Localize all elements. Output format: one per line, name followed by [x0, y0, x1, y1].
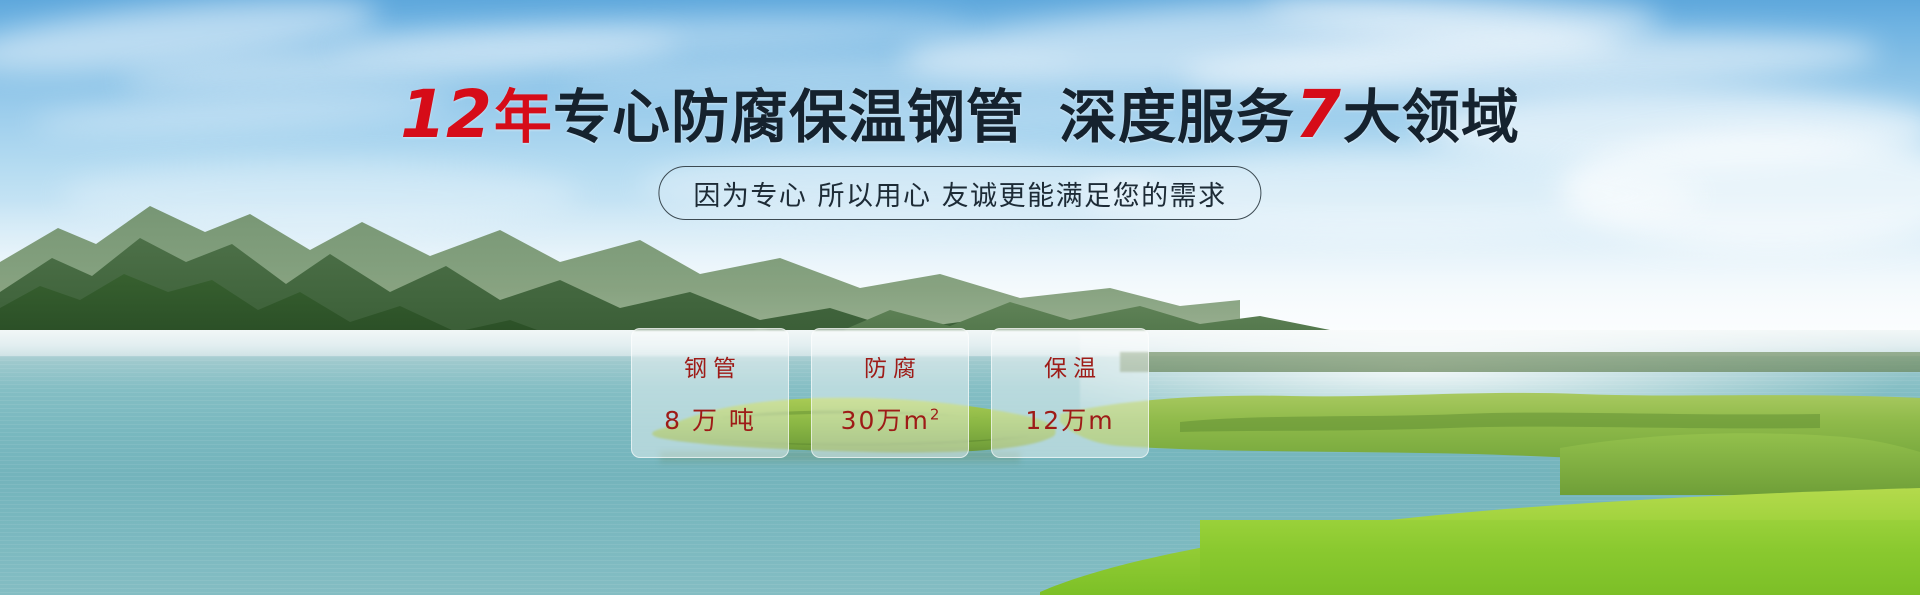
stat-card-insulation[interactable]: 保温 12万m: [991, 328, 1149, 458]
headline-part-two-before: 深度服务: [1059, 83, 1295, 151]
headline-part-two-after: 大领域: [1343, 83, 1520, 151]
stat-value: 8 万 吨: [664, 401, 756, 437]
headline-fields-number: 7: [1295, 76, 1343, 153]
stat-card-group: 钢管 8 万 吨 防腐 30万m2 保温 12万m: [631, 328, 1149, 458]
stat-label: 保温: [1038, 349, 1102, 383]
stat-value: 30万m2: [841, 401, 940, 437]
hero-banner: 12年专心防腐保温钢管深度服务7大领域 因为专心 所以用心 友诚更能满足您的需求…: [0, 0, 1920, 595]
stat-card-steel-pipe[interactable]: 钢管 8 万 吨: [631, 328, 789, 458]
banner-headline: 12年专心防腐保温钢管深度服务7大领域: [0, 84, 1920, 148]
stat-value-superscript: 2: [930, 406, 940, 424]
stat-label: 防腐: [858, 349, 922, 383]
subtitle-text: 因为专心 所以用心 友诚更能满足您的需求: [693, 174, 1226, 213]
headline-years-number: 12: [400, 76, 494, 153]
stat-label: 钢管: [678, 349, 742, 383]
headline-years-unit: 年: [494, 83, 553, 151]
subtitle-pill: 因为专心 所以用心 友诚更能满足您的需求: [658, 166, 1261, 220]
far-treeline: [1120, 352, 1920, 372]
stat-card-anticorrosion[interactable]: 防腐 30万m2: [811, 328, 969, 458]
stat-value: 12万m: [1025, 401, 1114, 437]
headline-part-one: 专心防腐保温钢管: [553, 83, 1025, 151]
foreground-grass-bottom: [1200, 520, 1920, 595]
